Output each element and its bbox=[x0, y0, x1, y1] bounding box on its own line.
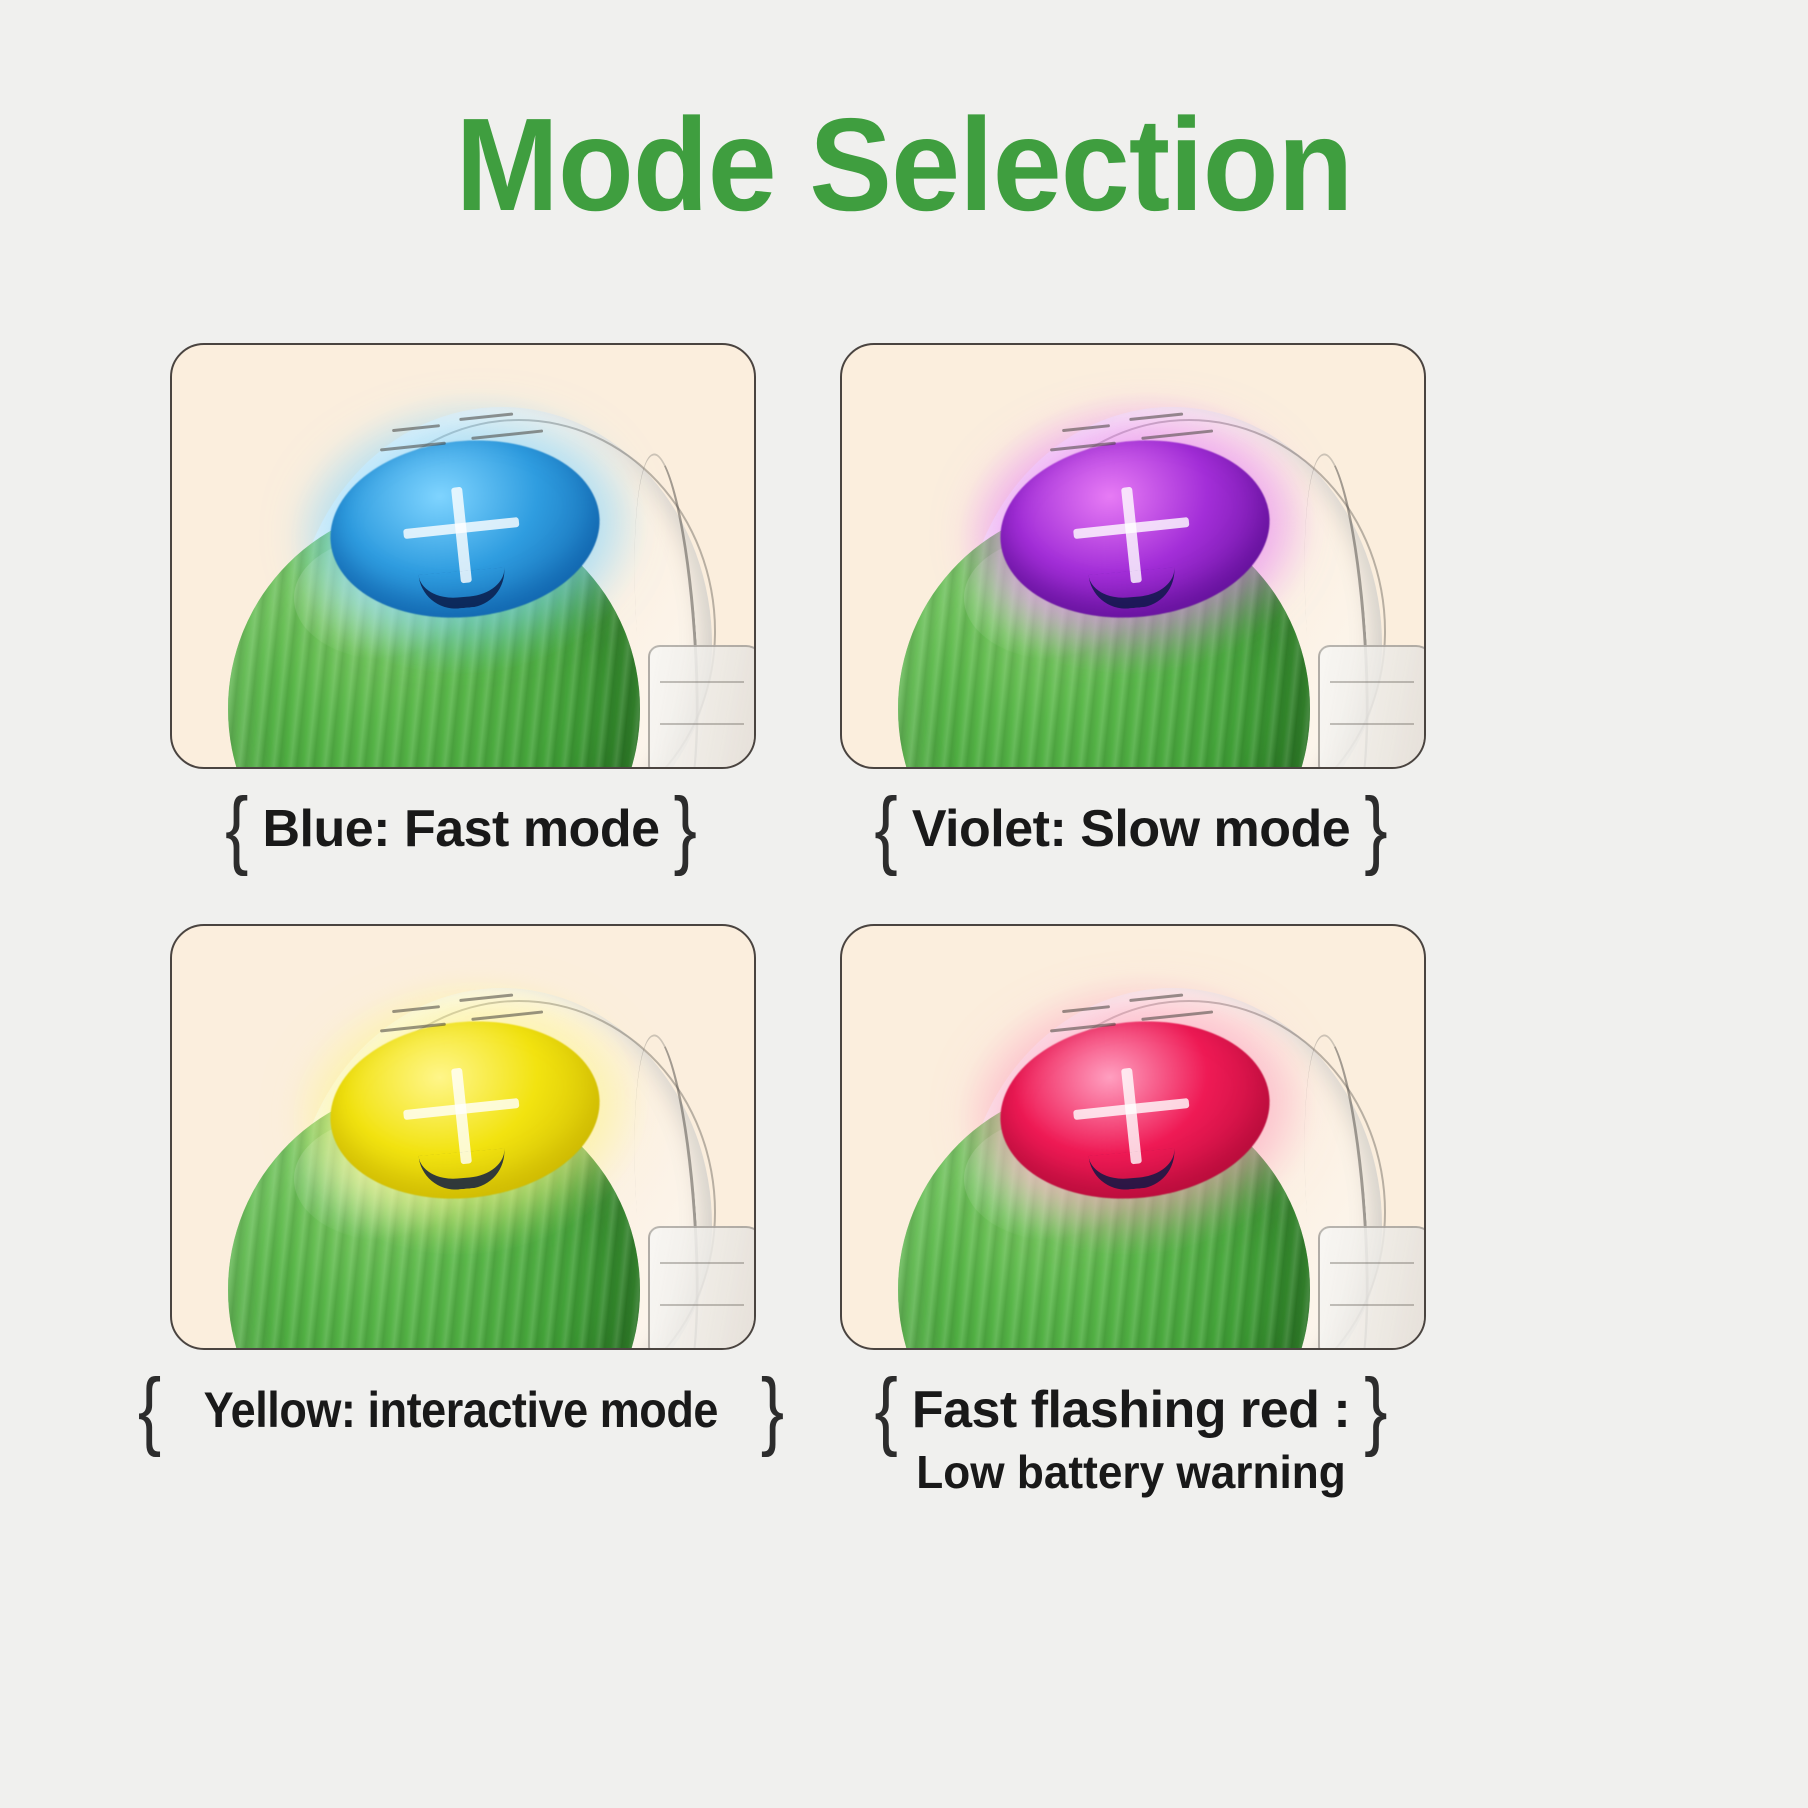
brace-close-icon: } bbox=[761, 1370, 784, 1449]
shell-connector bbox=[1318, 1226, 1426, 1350]
brace-close-icon: } bbox=[674, 789, 697, 868]
shell-connector bbox=[648, 1226, 756, 1350]
mode-caption-blue-fast: { Blue: Fast mode } bbox=[170, 797, 752, 860]
brace-close-icon: } bbox=[1364, 789, 1387, 868]
shell-connector bbox=[648, 645, 756, 769]
page-title: Mode Selection bbox=[54, 96, 1754, 235]
shell-connector bbox=[1318, 645, 1426, 769]
mode-card-red-low-battery[interactable]: { Fast flashing red : } Low battery warn… bbox=[840, 924, 1422, 1499]
mode-label: Yellow: interactive mode bbox=[204, 1381, 718, 1439]
brace-close-icon: } bbox=[1364, 1370, 1387, 1449]
mode-label: Violet: Slow mode bbox=[912, 799, 1350, 859]
brace-open-icon: { bbox=[225, 789, 248, 868]
brace-open-icon: { bbox=[138, 1370, 161, 1449]
mode-photo-violet-slow bbox=[840, 343, 1426, 769]
mode-photo-red-low-battery bbox=[840, 924, 1426, 1350]
mode-grid: { Blue: Fast mode } bbox=[170, 343, 1640, 1499]
mode-photo-blue-fast bbox=[170, 343, 756, 769]
mode-label: Fast flashing red : bbox=[912, 1380, 1350, 1440]
mode-photo-yellow-interactive bbox=[170, 924, 756, 1350]
brace-open-icon: { bbox=[874, 789, 897, 868]
mode-caption-violet-slow: { Violet: Slow mode } bbox=[840, 797, 1422, 860]
mode-sub-label: Low battery warning bbox=[852, 1445, 1411, 1499]
mode-card-yellow-interactive[interactable]: { Yellow: interactive mode } bbox=[170, 924, 752, 1499]
mode-caption-red-low-battery: { Fast flashing red : } Low battery warn… bbox=[840, 1378, 1422, 1499]
mode-caption-yellow-interactive: { Yellow: interactive mode } bbox=[170, 1378, 752, 1441]
mode-card-blue-fast[interactable]: { Blue: Fast mode } bbox=[170, 343, 752, 860]
mode-card-violet-slow[interactable]: { Violet: Slow mode } bbox=[840, 343, 1422, 860]
mode-label: Blue: Fast mode bbox=[263, 799, 660, 859]
brace-open-icon: { bbox=[874, 1370, 897, 1449]
